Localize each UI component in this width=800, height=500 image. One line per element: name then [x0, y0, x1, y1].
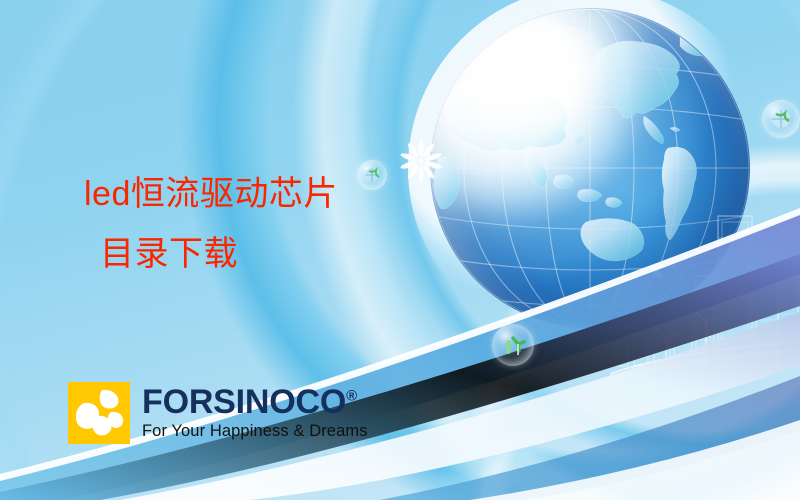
bubble-with-windmill-icon	[492, 324, 534, 366]
globe-specular-shine	[451, 6, 628, 157]
globe-sphere	[430, 8, 750, 328]
wind-turbine-icon	[656, 310, 720, 366]
logo-wordmark: FORSINOCO®	[142, 384, 368, 420]
bubble-with-globe-icon	[357, 160, 387, 190]
logo-text-block: FORSINOCO® For Your Happiness & Dreams	[142, 382, 368, 441]
company-logo: FORSINOCO® For Your Happiness & Dreams	[68, 382, 368, 444]
globe-continents-and-grid	[430, 8, 750, 328]
swoosh-lower-blue	[300, 180, 800, 500]
world-globe	[430, 8, 750, 328]
headline-line-1: led恒流驱动芯片	[84, 164, 338, 224]
registered-trademark-icon: ®	[346, 388, 357, 405]
poster-canvas: led恒流驱动芯片 目录下载 FORSINOCO® For Your Happ	[0, 0, 800, 500]
logo-wordmark-text: FORSINOCO	[142, 383, 346, 421]
bubble-with-globe-icon	[762, 100, 800, 138]
swoosh-accent	[330, 0, 800, 500]
city-skyline-silhouette	[610, 192, 800, 382]
headline-block: led恒流驱动芯片 目录下载	[84, 164, 338, 284]
globe-outer-glow	[408, 0, 772, 350]
four-petal-flower-icon	[68, 382, 130, 444]
globe-rim-highlight	[430, 8, 750, 328]
swoosh-lower-light	[430, 110, 800, 500]
logo-tagline: For Your Happiness & Dreams	[142, 421, 368, 441]
flower-sparkle-icon	[400, 140, 442, 182]
headline-line-2: 目录下载	[100, 224, 338, 284]
